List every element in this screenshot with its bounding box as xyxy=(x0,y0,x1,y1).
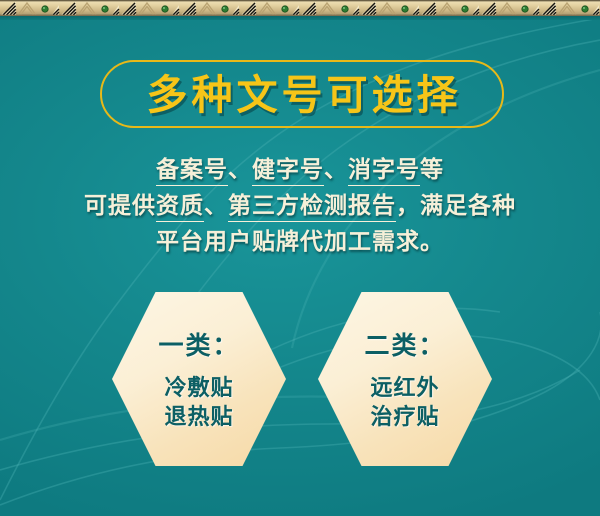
page-title: 多种文号可选择 xyxy=(102,62,506,130)
category-hexagon-2[interactable]: 二类： 远红外 治疗贴 xyxy=(318,292,492,466)
emphasized-term: 健字号 xyxy=(252,156,324,186)
description-line: 备案号、健字号、消字号等 xyxy=(0,152,600,188)
category-item: 退热贴 xyxy=(164,403,233,432)
plain-text: 、 xyxy=(204,192,228,219)
category-hexagon-1-content: 一类： 冷敷贴 退热贴 xyxy=(112,292,286,466)
description-line: 可提供资质、第三方检测报告，满足各种 xyxy=(0,188,600,224)
category-item: 远红外 xyxy=(370,374,439,403)
border-pattern-icon xyxy=(0,0,600,17)
category-heading: 一类： xyxy=(158,326,239,362)
category-item: 冷敷贴 xyxy=(164,374,233,403)
emphasized-term: 消字号 xyxy=(348,156,420,186)
plain-text: 、 xyxy=(324,156,348,183)
emphasized-term: 资质 xyxy=(156,192,204,222)
emphasized-term: 备案号 xyxy=(156,156,228,186)
description-paragraph: 备案号、健字号、消字号等 可提供资质、第三方检测报告，满足各种 平台用户贴牌代加… xyxy=(0,152,600,260)
plain-text: 、 xyxy=(228,156,252,183)
category-hexagon-1[interactable]: 一类： 冷敷贴 退热贴 xyxy=(112,292,286,466)
border-underline-strip xyxy=(0,16,600,20)
promo-poster: 多种文号可选择 备案号、健字号、消字号等 可提供资质、第三方检测报告，满足各种 … xyxy=(0,0,600,516)
description-line: 平台用户贴牌代加工需求。 xyxy=(0,224,600,260)
category-heading: 二类： xyxy=(364,326,445,362)
plain-text: 可提供 xyxy=(84,192,156,219)
title-frame: 多种文号可选择 xyxy=(100,60,504,128)
category-hexagon-2-content: 二类： 远红外 治疗贴 xyxy=(318,292,492,466)
emphasized-term: 第三方检测报告 xyxy=(228,192,396,222)
top-ornamental-border xyxy=(0,0,600,20)
category-item: 治疗贴 xyxy=(370,403,439,432)
plain-text: 等 xyxy=(420,156,444,183)
plain-text: 平台用户贴牌代加工需求。 xyxy=(156,228,444,255)
plain-text: ，满足各种 xyxy=(396,192,516,219)
